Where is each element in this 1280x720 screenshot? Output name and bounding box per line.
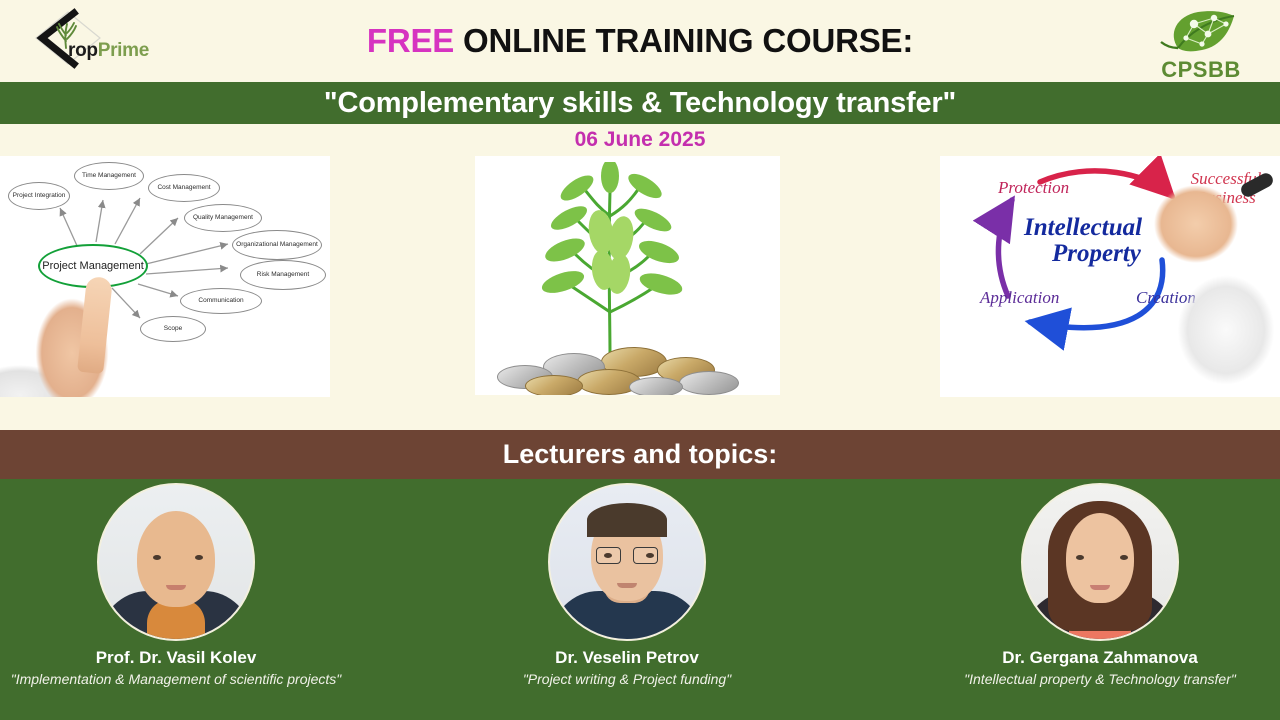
lecturer-topic: "Intellectual property & Technology tran… bbox=[885, 671, 1280, 687]
lecturer-card: Dr. Gergana Zahmanova "Intellectual prop… bbox=[885, 479, 1280, 687]
lecturer-card: Dr. Veselin Petrov "Project writing & Pr… bbox=[412, 479, 842, 687]
cpsbb-logo: CPSBB bbox=[1142, 4, 1260, 78]
title-rest: ONLINE TRAINING COURSE: bbox=[454, 22, 913, 59]
page-title: FREE ONLINE TRAINING COURSE: bbox=[0, 22, 1280, 60]
poster-header: ropPrime FREE ONLINE TRAINING COURSE: CP… bbox=[0, 0, 1280, 82]
pm-node-quality-management: Quality Management bbox=[184, 204, 262, 232]
lecturer-name: Dr. Veselin Petrov bbox=[412, 648, 842, 668]
coins-pile bbox=[481, 343, 773, 395]
lecturer-topic: "Project writing & Project funding" bbox=[412, 671, 842, 687]
portrait-vasil-kolev bbox=[99, 485, 253, 639]
portrait-veselin-petrov bbox=[550, 485, 704, 639]
project-management-diagram: Project Management Project Integration T… bbox=[0, 156, 330, 397]
pm-node-project-integration: Project Integration bbox=[8, 182, 70, 210]
ip-label-application: Application bbox=[980, 288, 1059, 308]
lecturer-card: Prof. Dr. Vasil Kolev "Implementation & … bbox=[0, 479, 391, 687]
pm-node-risk-management: Risk Management bbox=[240, 260, 326, 290]
seedling-illustration bbox=[515, 162, 705, 357]
ip-label-center-line1: Intellectual bbox=[1024, 214, 1142, 242]
title-free-highlight: FREE bbox=[367, 22, 454, 59]
course-name-banner: "Complementary skills & Technology trans… bbox=[0, 82, 1280, 124]
course-date-row: 06 June 2025 bbox=[0, 124, 1280, 156]
lecturer-name: Dr. Gergana Zahmanova bbox=[885, 648, 1280, 668]
pm-node-organizational-management: Organizational Management bbox=[232, 230, 322, 260]
avatar bbox=[548, 483, 706, 641]
lecturer-topic: "Implementation & Management of scientif… bbox=[0, 671, 391, 687]
pm-node-cost-management: Cost Management bbox=[148, 174, 220, 202]
image-strip: Project Management Project Integration T… bbox=[0, 156, 1280, 399]
lecturers-section-banner: Lecturers and topics: bbox=[0, 430, 1280, 479]
course-date-text: 06 June 2025 bbox=[575, 128, 706, 152]
lecturers-section: Prof. Dr. Vasil Kolev "Implementation & … bbox=[0, 479, 1280, 720]
course-name-text: "Complementary skills & Technology trans… bbox=[324, 87, 956, 120]
avatar bbox=[97, 483, 255, 641]
pm-node-communication: Communication bbox=[180, 288, 262, 314]
ip-hand-photo bbox=[1140, 180, 1280, 395]
intellectual-property-diagram: Protection Successful Business Creation … bbox=[940, 156, 1280, 397]
avatar bbox=[1021, 483, 1179, 641]
cpsbb-leaf-network-icon bbox=[1142, 4, 1260, 56]
plant-growing-on-coins-image bbox=[475, 156, 780, 395]
ip-label-center-line2: Property bbox=[1052, 240, 1141, 268]
portrait-gergana-zahmanova bbox=[1023, 485, 1177, 639]
lecturers-heading: Lecturers and topics: bbox=[503, 439, 778, 470]
lecturer-name: Prof. Dr. Vasil Kolev bbox=[0, 648, 391, 668]
ip-label-protection: Protection bbox=[998, 178, 1069, 198]
cpsbb-wordmark: CPSBB bbox=[1142, 57, 1260, 83]
pm-node-time-management: Time Management bbox=[74, 162, 144, 190]
